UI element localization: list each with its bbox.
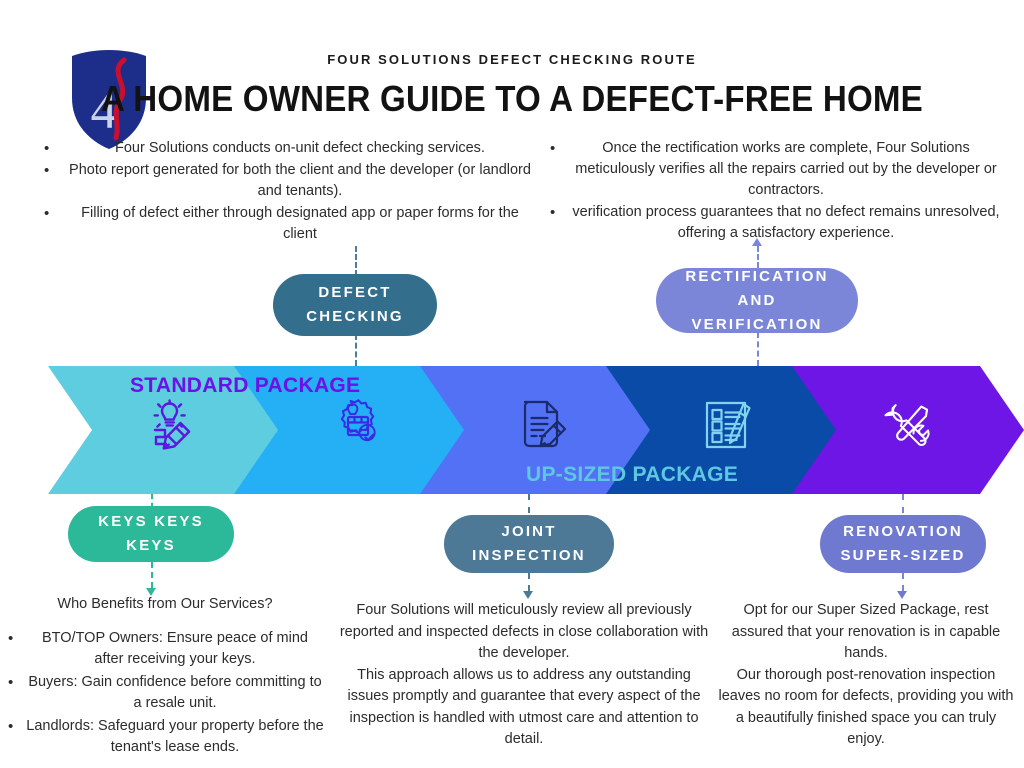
connector-defect-checking-bottom — [355, 334, 357, 366]
badge-joint-inspection[interactable]: JOINT INSPECTION — [444, 515, 614, 573]
connector-keys-bottom — [151, 562, 153, 588]
arrowhead-up-rectification — [752, 238, 762, 246]
kicker-text: FOUR SOLUTIONS DEFECT CHECKING ROUTE — [0, 52, 1024, 67]
page-title: A HOME OWNER GUIDE TO A DEFECT-FREE HOME — [41, 78, 983, 120]
top-right-bullets: Once the rectification works are complet… — [540, 138, 1010, 245]
connector-rectification-bottom — [757, 332, 759, 366]
gear-box-check-icon — [326, 395, 386, 455]
badge-defect-checking-label: DEFECT CHECKING — [287, 281, 423, 329]
badge-rectification-verification[interactable]: RECTIFICATION AND VERIFICATION — [656, 268, 858, 333]
document-pencil-icon — [512, 395, 572, 455]
connector-renovation-bottom — [902, 573, 904, 591]
lightbulb-pencil-icon — [140, 395, 200, 455]
joint-inspection-description: Four Solutions will meticulously review … — [338, 600, 710, 751]
infographic-canvas: 4 FOUR SOLUTIONS DEFECT CHECKING ROUTE A… — [0, 0, 1024, 768]
upsized-package-label: UP-SIZED PACKAGE — [526, 463, 738, 487]
connector-joint-bottom — [528, 573, 530, 591]
top-left-bullets: Four Solutions conducts on-unit defect c… — [34, 138, 544, 246]
process-chevron-band: STANDARD PACKAGE UP-SIZED PACKAGE — [48, 366, 1024, 494]
list-item: Photo report generated for both the clie… — [34, 160, 544, 202]
list-item: Filling of defect either through designa… — [34, 203, 544, 245]
connector-renovation-top — [902, 494, 904, 513]
renovation-description: Opt for our Super Sized Package, rest as… — [716, 600, 1016, 751]
badge-joint-inspection-label: JOINT INSPECTION — [458, 520, 600, 568]
list-item: Once the rectification works are complet… — [540, 138, 1010, 201]
benefits-column: Who Benefits from Our Services? BTO/TOP … — [0, 594, 330, 760]
list-item: BTO/TOP Owners: Ensure peace of mind aft… — [0, 628, 330, 671]
arrowhead-down-joint — [523, 591, 533, 599]
connector-defect-checking-top — [355, 246, 357, 276]
list-item: Buyers: Gain confidence before committin… — [0, 672, 330, 715]
renovation-paragraph-2: Our thorough post-renovation inspection … — [716, 665, 1016, 751]
arrowhead-down-renovation — [897, 591, 907, 599]
badge-keys-label: KEYS KEYS KEYS — [82, 510, 220, 558]
standard-package-label: STANDARD PACKAGE — [130, 374, 360, 398]
checklist-pen-icon — [698, 395, 758, 455]
joint-inspection-paragraph-1: Four Solutions will meticulously review … — [338, 600, 710, 665]
badge-renovation-supersized-label: RENOVATION SUPER-SIZED — [834, 520, 972, 568]
benefits-title: Who Benefits from Our Services? — [0, 594, 330, 616]
renovation-paragraph-1: Opt for our Super Sized Package, rest as… — [716, 600, 1016, 665]
badge-keys[interactable]: KEYS KEYS KEYS — [68, 506, 234, 562]
wrench-screwdriver-icon — [878, 395, 938, 455]
list-item: verification process guarantees that no … — [540, 202, 1010, 244]
list-item: Four Solutions conducts on-unit defect c… — [34, 138, 544, 159]
connector-joint-top — [528, 494, 530, 513]
badge-defect-checking[interactable]: DEFECT CHECKING — [273, 274, 437, 336]
badge-rectification-verification-label: RECTIFICATION AND VERIFICATION — [670, 265, 844, 337]
badge-renovation-supersized[interactable]: RENOVATION SUPER-SIZED — [820, 515, 986, 573]
list-item: Landlords: Safeguard your property befor… — [0, 716, 330, 759]
joint-inspection-paragraph-2: This approach allows us to address any o… — [338, 665, 710, 751]
